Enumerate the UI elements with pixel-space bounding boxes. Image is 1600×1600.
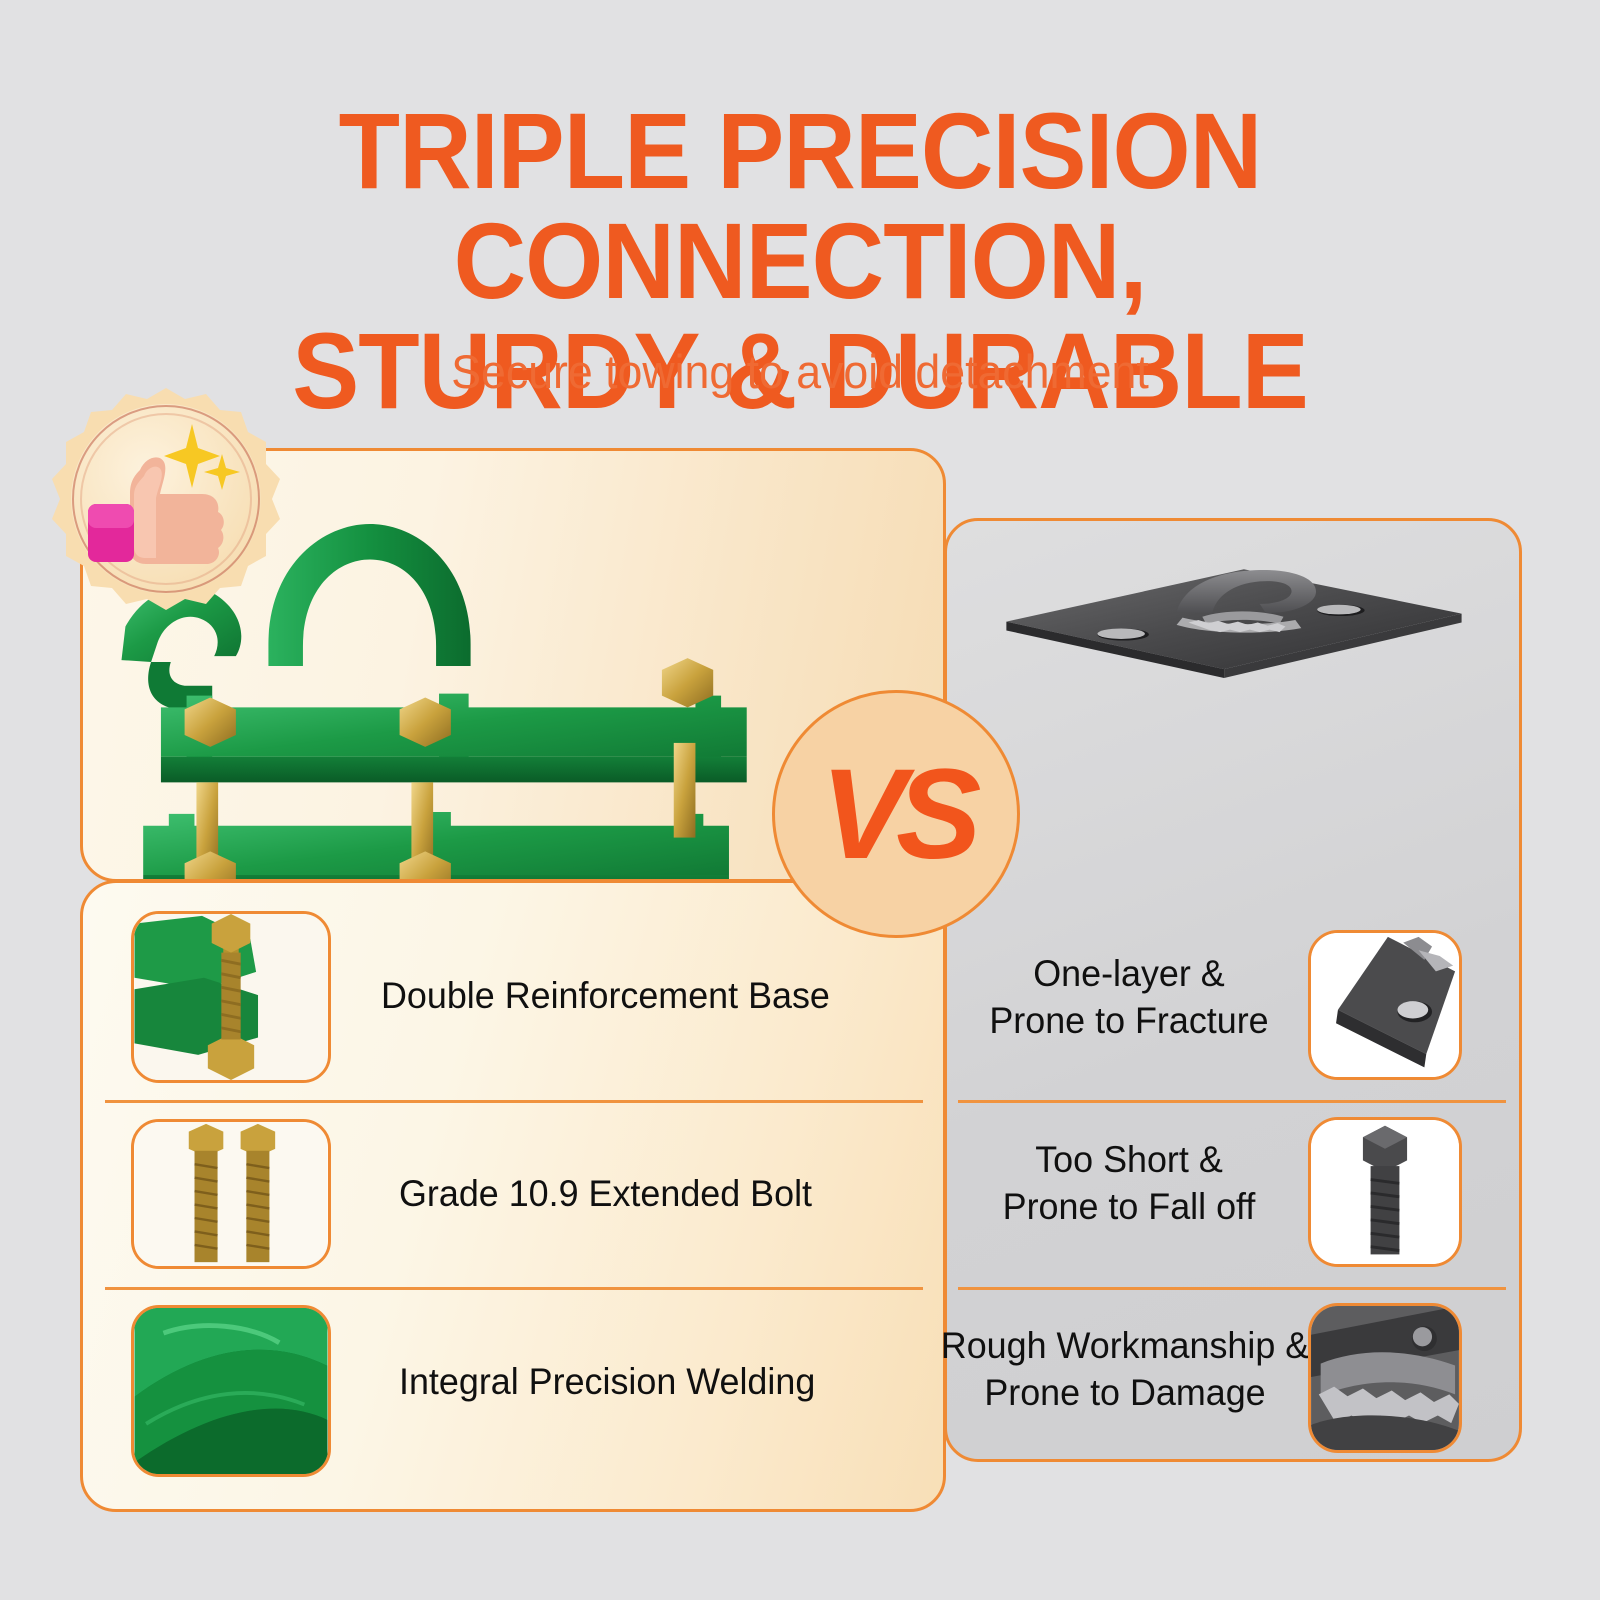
- bad-thumb-short-bolt: [1308, 1117, 1462, 1267]
- good-row-label-2: Grade 10.9 Extended Bolt: [399, 1173, 812, 1215]
- infographic-stage: TRIPLE PRECISION CONNECTION, STURDY & DU…: [0, 0, 1600, 1600]
- good-thumb-long-bolts: [131, 1119, 331, 1269]
- good-thumb-weld: [131, 1305, 331, 1477]
- good-row-divider-1: [105, 1100, 923, 1103]
- vs-label: VS: [775, 693, 1017, 935]
- bad-row-label-3: Rough Workmanship & Prone to Damage: [936, 1322, 1314, 1417]
- bad-thumb-thin-plate: [1308, 930, 1462, 1080]
- bad-row-divider-1: [958, 1100, 1506, 1103]
- good-row-label-1: Double Reinforcement Base: [381, 975, 830, 1017]
- competitor-hero-illustration: [947, 521, 1519, 901]
- bad-row-divider-2: [958, 1287, 1506, 1290]
- bad-row-label-2: Too Short & Prone to Fall off: [950, 1136, 1309, 1231]
- good-row-divider-2: [105, 1287, 923, 1290]
- recommended-badge: [42, 382, 290, 630]
- good-features-list: Double Reinforcement Base: [80, 880, 946, 1512]
- bad-thumb-rough-weld: [1308, 1303, 1462, 1453]
- good-thumb-double-base: [131, 911, 331, 1083]
- bad-row-label-1: One-layer & Prone to Fracture: [950, 950, 1309, 1045]
- vs-badge: VS: [772, 690, 1020, 938]
- good-row-label-3: Integral Precision Welding: [399, 1361, 815, 1403]
- shackle-ring: [268, 524, 470, 666]
